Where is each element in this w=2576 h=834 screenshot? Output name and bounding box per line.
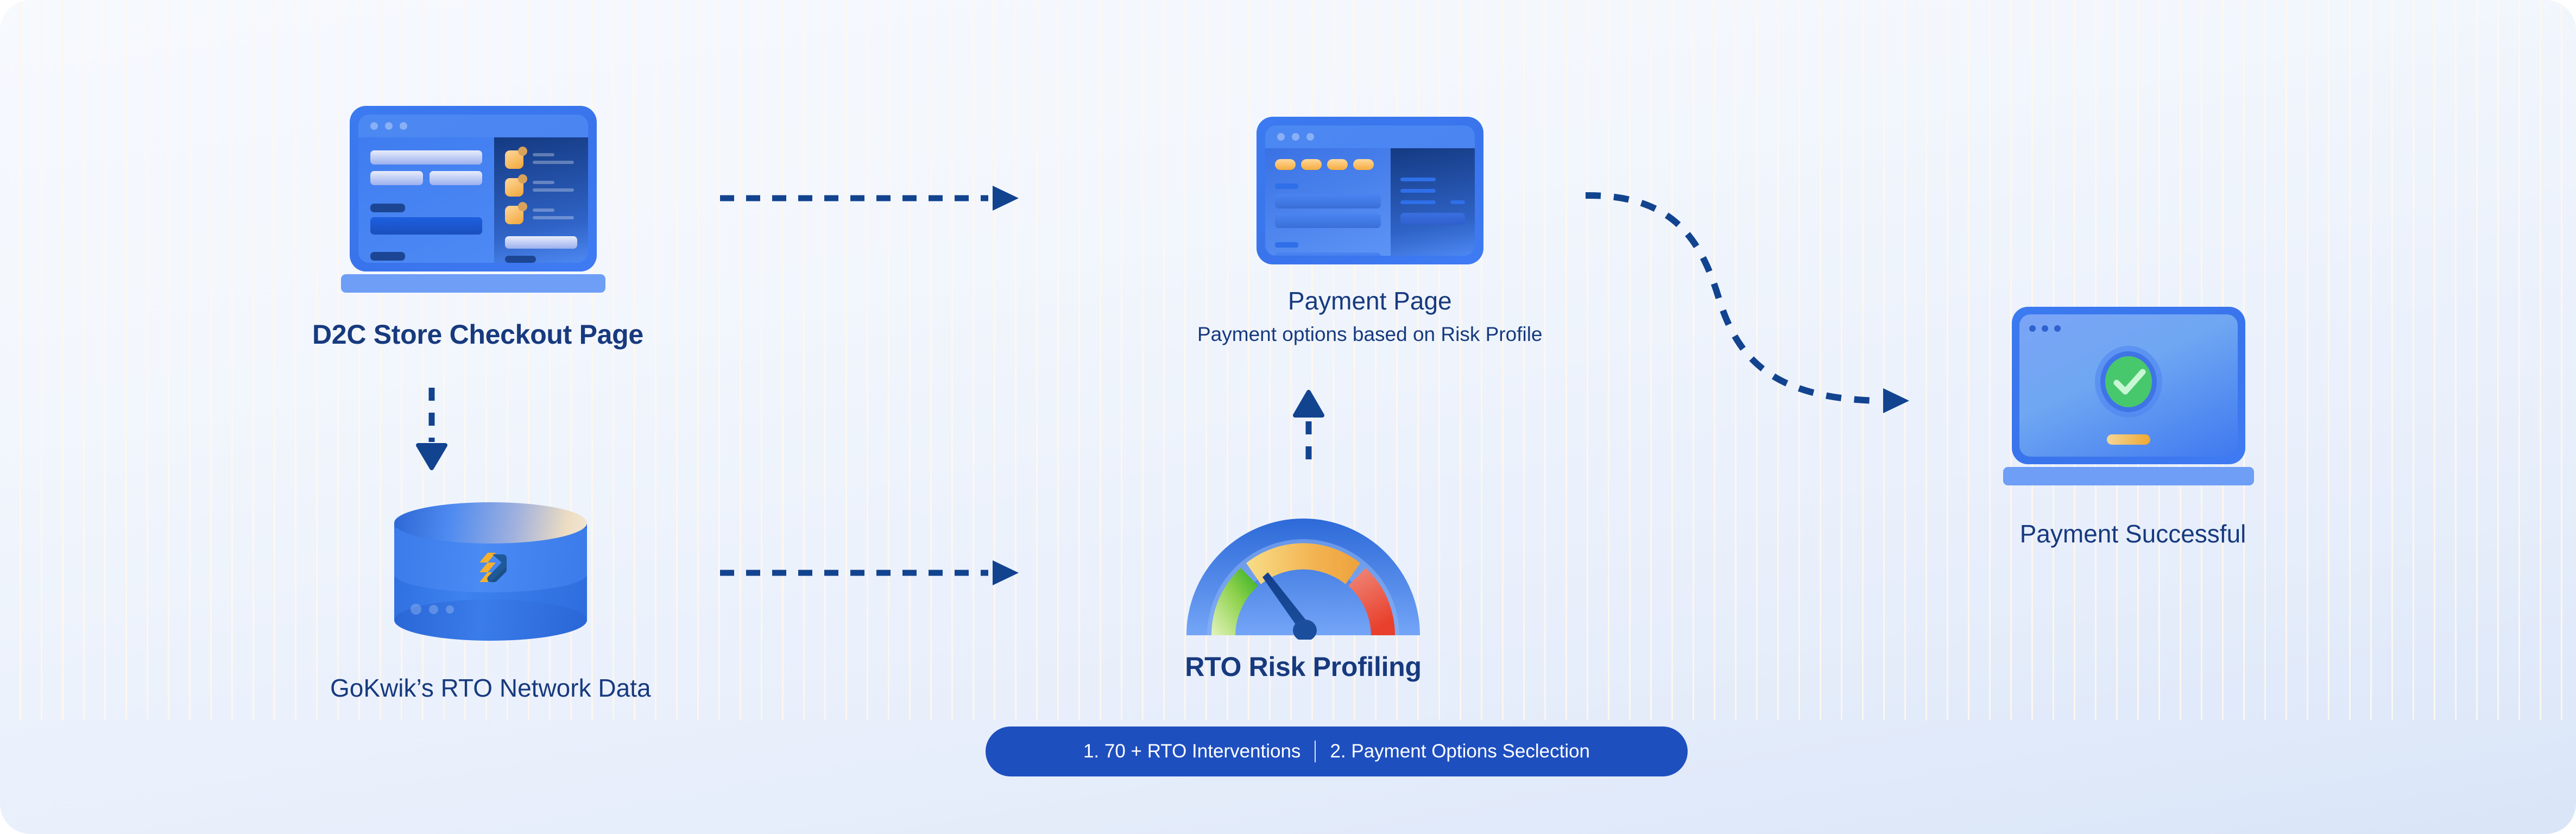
window-titlebar <box>358 115 588 137</box>
laptop-checkout-icon <box>350 106 605 293</box>
arrow-risk-profiling-to-payment-page <box>1290 386 1328 467</box>
form-field <box>370 150 482 165</box>
field-label <box>1275 242 1298 248</box>
form-field <box>430 171 482 185</box>
window-dot-icon <box>385 122 393 130</box>
summary-row <box>505 256 536 263</box>
payment-method-icon[interactable] <box>1301 159 1322 170</box>
node-label-payment-successful: Payment Successful <box>2020 519 2246 548</box>
window-titlebar <box>2029 325 2061 332</box>
window-dot-icon <box>2054 325 2061 332</box>
payment-option-row[interactable] <box>1275 252 1381 256</box>
arrow-checkout-to-network-data <box>413 386 451 472</box>
field-label <box>370 252 405 261</box>
node-label-rto-risk-profiling: RTO Risk Profiling <box>1185 651 1421 683</box>
laptop-success-icon <box>2012 307 2254 485</box>
summary-row <box>1400 178 1436 181</box>
summary-row <box>1400 200 1436 204</box>
payment-options-panel <box>1265 148 1391 256</box>
gokwik-logo-icon <box>471 548 511 588</box>
rto-interventions-badge[interactable]: 1. 70 + RTO Interventions 2. Payment Opt… <box>986 726 1688 776</box>
arrow-checkout-to-payment-page <box>717 179 1032 217</box>
badge-item-interventions: 1. 70 + RTO Interventions <box>1083 741 1300 762</box>
success-action-button[interactable] <box>2107 434 2150 445</box>
check-circle-icon <box>2093 346 2164 418</box>
arrow-payment-page-to-payment-successful <box>1575 179 1933 418</box>
badge-item-payment-options: 2. Payment Options Seclection <box>1330 741 1590 762</box>
product-thumbnail-icon <box>505 178 523 197</box>
laptop-base <box>341 274 605 293</box>
product-thumbnail-icon <box>505 206 523 224</box>
summary-value <box>1450 200 1465 204</box>
payment-method-icon[interactable] <box>1275 159 1296 170</box>
order-summary-panel <box>1391 148 1474 256</box>
node-payment-page[interactable]: Payment Page Payment options based on Ri… <box>1197 117 1543 346</box>
arrow-network-data-to-risk-profiling <box>717 554 1032 592</box>
window-dot-icon <box>370 122 378 130</box>
form-field <box>370 171 423 185</box>
cart-summary-panel <box>494 137 588 263</box>
laptop-base <box>2003 467 2254 485</box>
node-gokwik-rto-network-data[interactable]: GoKwik’s RTO Network Data <box>330 502 651 703</box>
payment-method-icon[interactable] <box>1353 159 1374 170</box>
cylinder-status-dots <box>411 604 454 615</box>
field-label <box>370 204 405 212</box>
node-sublabel-payment-page: Payment options based on Risk Profile <box>1197 323 1543 346</box>
product-thumbnail-icon <box>505 150 523 169</box>
badge-separator <box>1315 741 1316 762</box>
form-field <box>370 217 482 235</box>
node-label-gokwik-rto-network-data: GoKwik’s RTO Network Data <box>330 673 651 703</box>
window-dot-icon <box>1292 133 1299 141</box>
place-order-button[interactable] <box>505 236 577 249</box>
node-rto-risk-profiling[interactable]: RTO Risk Profiling <box>1181 505 1425 683</box>
window-dot-icon <box>400 122 407 130</box>
node-label-d2c-store-checkout: D2C Store Checkout Page <box>312 319 643 350</box>
node-payment-successful[interactable]: Payment Successful <box>2012 307 2254 548</box>
risk-gauge-icon <box>1181 505 1425 642</box>
payment-method-icon[interactable] <box>1327 159 1348 170</box>
checkout-form-panel <box>358 137 494 263</box>
node-d2c-store-checkout[interactable]: D2C Store Checkout Page <box>312 106 643 350</box>
window-dot-icon <box>2042 325 2048 332</box>
summary-row <box>1400 189 1436 193</box>
window-dot-icon <box>1306 133 1314 141</box>
payment-option-row[interactable] <box>1275 213 1381 228</box>
diagram-canvas: D2C Store Checkout Page GoKwik’s RTO Net… <box>0 0 2576 834</box>
window-dot-icon <box>1277 133 1285 141</box>
browser-window-icon <box>1257 117 1483 264</box>
field-label <box>1275 184 1298 189</box>
payment-option-row[interactable] <box>1275 194 1381 208</box>
node-label-payment-page: Payment Page <box>1288 286 1452 315</box>
pay-now-button[interactable] <box>1400 213 1464 225</box>
database-cylinder-icon <box>394 502 587 641</box>
window-dot-icon <box>2029 325 2036 332</box>
window-titlebar <box>1265 125 1475 148</box>
